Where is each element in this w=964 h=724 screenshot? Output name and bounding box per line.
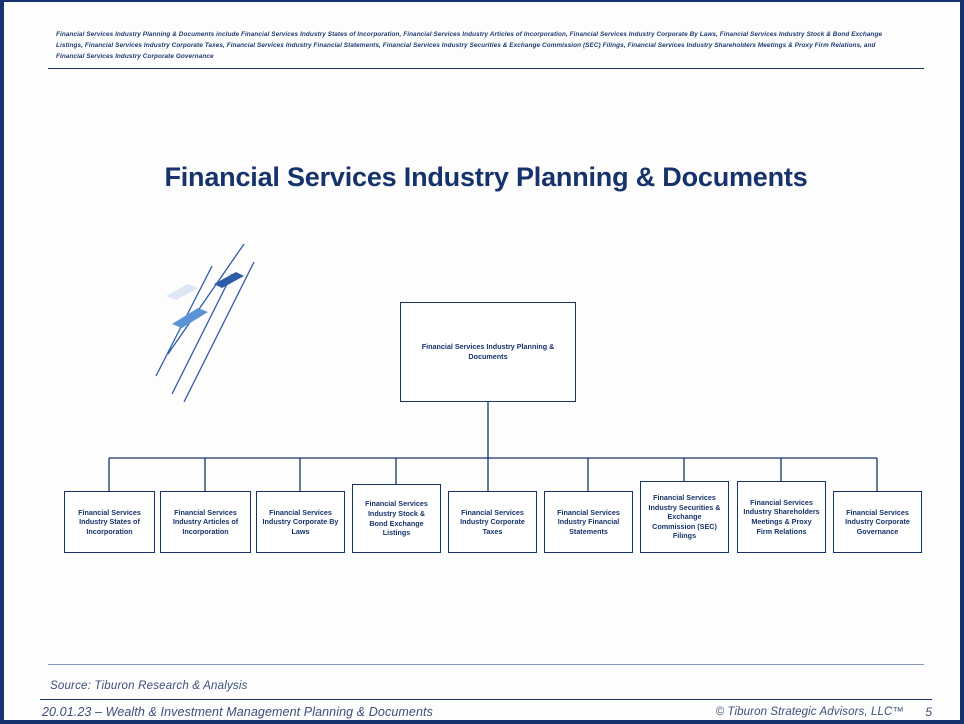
org-node-child-6[interactable]: Financial Services Industry Financial St… xyxy=(544,491,633,553)
org-node-child-9[interactable]: Financial Services Industry Corporate Go… xyxy=(833,491,922,553)
decorative-diagonals xyxy=(154,234,274,404)
org-node-child-3[interactable]: Financial Services Industry Corporate By… xyxy=(256,491,345,553)
footer-divider xyxy=(40,699,932,700)
footer-page-number: 5 xyxy=(925,705,932,719)
decor-line-4 xyxy=(168,244,244,354)
org-node-child-2[interactable]: Financial Services Industry Articles of … xyxy=(160,491,251,553)
org-node-root[interactable]: Financial Services Industry Planning & D… xyxy=(400,302,576,402)
page-title: Financial Services Industry Planning & D… xyxy=(4,162,964,193)
header-divider xyxy=(48,68,924,69)
footer-copyright: © Tiburon Strategic Advisors, LLC™ xyxy=(716,706,904,718)
org-node-child-7[interactable]: Financial Services Industry Securities &… xyxy=(640,481,729,553)
org-node-child-5[interactable]: Financial Services Industry Corporate Ta… xyxy=(448,491,537,553)
decor-parallelogram-mid xyxy=(172,308,208,328)
slide-kicker-text: Financial Services Industry Planning & D… xyxy=(56,29,901,62)
decor-parallelogram-light xyxy=(166,284,198,300)
org-node-child-1[interactable]: Financial Services Industry States of In… xyxy=(64,491,155,553)
footer-document-title: 20.01.23 – Wealth & Investment Managemen… xyxy=(42,705,433,719)
org-node-child-4[interactable]: Financial Services Industry Stock & Bond… xyxy=(352,484,441,553)
slide-canvas: Financial Services Industry Planning & D… xyxy=(0,0,964,724)
source-note: Source: Tiburon Research & Analysis xyxy=(50,680,248,692)
source-divider xyxy=(48,664,924,665)
org-node-child-8[interactable]: Financial Services Industry Shareholders… xyxy=(737,481,826,553)
